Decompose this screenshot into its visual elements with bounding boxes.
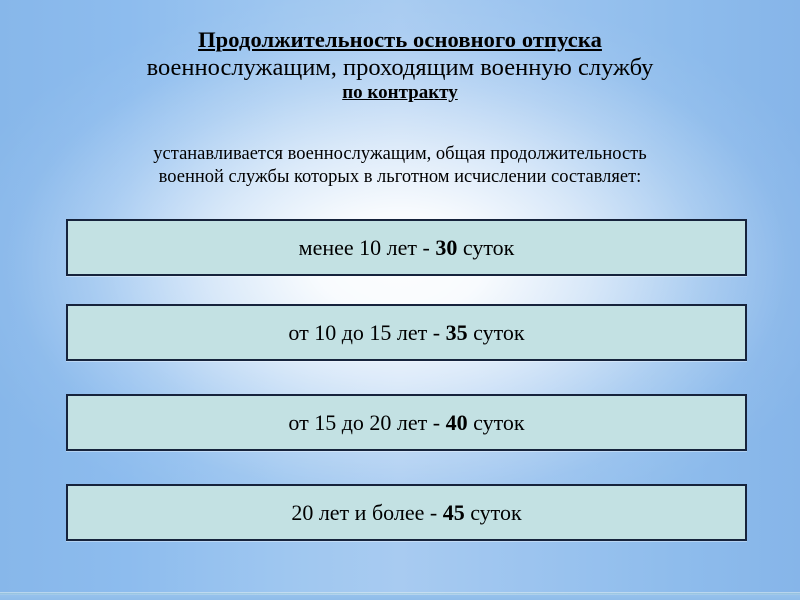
entry-text-3: от 15 до 20 лет - 40 суток: [288, 412, 524, 434]
entry-text-2: от 10 до 15 лет - 35 суток: [288, 322, 524, 344]
slide-title: Продолжительность основного отпуска воен…: [0, 28, 800, 103]
title-line-secondary: военнослужащим, проходящим военную служб…: [0, 55, 800, 81]
entry-suffix-2: суток: [468, 320, 525, 345]
entry-number-3: 40: [446, 410, 468, 435]
entry-prefix-2: от 10 до 15 лет -: [288, 320, 445, 345]
lead-in-line-2: военной службы которых в льготном исчисл…: [70, 166, 730, 189]
entry-text-4: 20 лет и более - 45 суток: [291, 502, 521, 524]
entry-box-3: от 15 до 20 лет - 40 суток: [66, 394, 747, 451]
entry-prefix-3: от 15 до 20 лет -: [288, 410, 445, 435]
lead-in-line-1: устанавливается военнослужащим, общая пр…: [70, 143, 730, 166]
entry-number-4: 45: [443, 500, 465, 525]
lead-in-paragraph: устанавливается военнослужащим, общая пр…: [70, 143, 730, 190]
entry-number-2: 35: [446, 320, 468, 345]
entry-prefix-4: 20 лет и более -: [291, 500, 442, 525]
entry-number-1: 30: [435, 235, 457, 260]
title-line-primary: Продолжительность основного отпуска: [0, 28, 800, 52]
entry-box-2: от 10 до 15 лет - 35 суток: [66, 304, 747, 361]
entry-suffix-3: суток: [468, 410, 525, 435]
entry-text-1: менее 10 лет - 30 суток: [299, 237, 515, 259]
entry-suffix-1: суток: [457, 235, 514, 260]
entry-prefix-1: менее 10 лет -: [299, 235, 436, 260]
entry-box-4: 20 лет и более - 45 суток: [66, 484, 747, 541]
entry-suffix-4: суток: [465, 500, 522, 525]
slide-content: Продолжительность основного отпуска воен…: [0, 0, 800, 600]
entry-box-1: менее 10 лет - 30 суток: [66, 219, 747, 276]
presentation-slide: Продолжительность основного отпуска воен…: [0, 0, 800, 600]
title-line-tertiary: по контракту: [0, 83, 800, 104]
